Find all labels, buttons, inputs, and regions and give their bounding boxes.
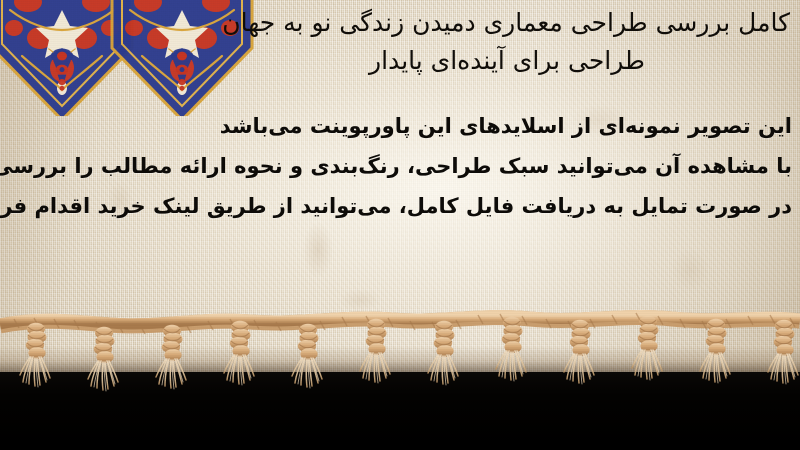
title-line-2: طراحی برای آینده‌ای پایدار <box>230 42 784 80</box>
body-line-3: در صورت تمایل به دریافت فایل کامل، می‌تو… <box>2 186 792 226</box>
slide-canvas: کامل بررسی طراحی معماری دمیدن زندگی نو ب… <box>0 0 800 450</box>
body-line-1: این تصویر نمونه‌ای از اسلایدهای این پاور… <box>2 106 792 146</box>
slide-title: کامل بررسی طراحی معماری دمیدن زندگی نو ب… <box>230 4 790 80</box>
slide-body: این تصویر نمونه‌ای از اسلایدهای این پاور… <box>2 106 792 226</box>
body-line-2: با مشاهده آن می‌توانید سبک طراحی، رنگ‌بن… <box>2 146 792 186</box>
title-line-1: کامل بررسی طراحی معماری دمیدن زندگی نو ب… <box>230 4 790 42</box>
bottom-black-band <box>0 372 800 450</box>
carpet-medallion-ornament-group <box>0 0 260 116</box>
